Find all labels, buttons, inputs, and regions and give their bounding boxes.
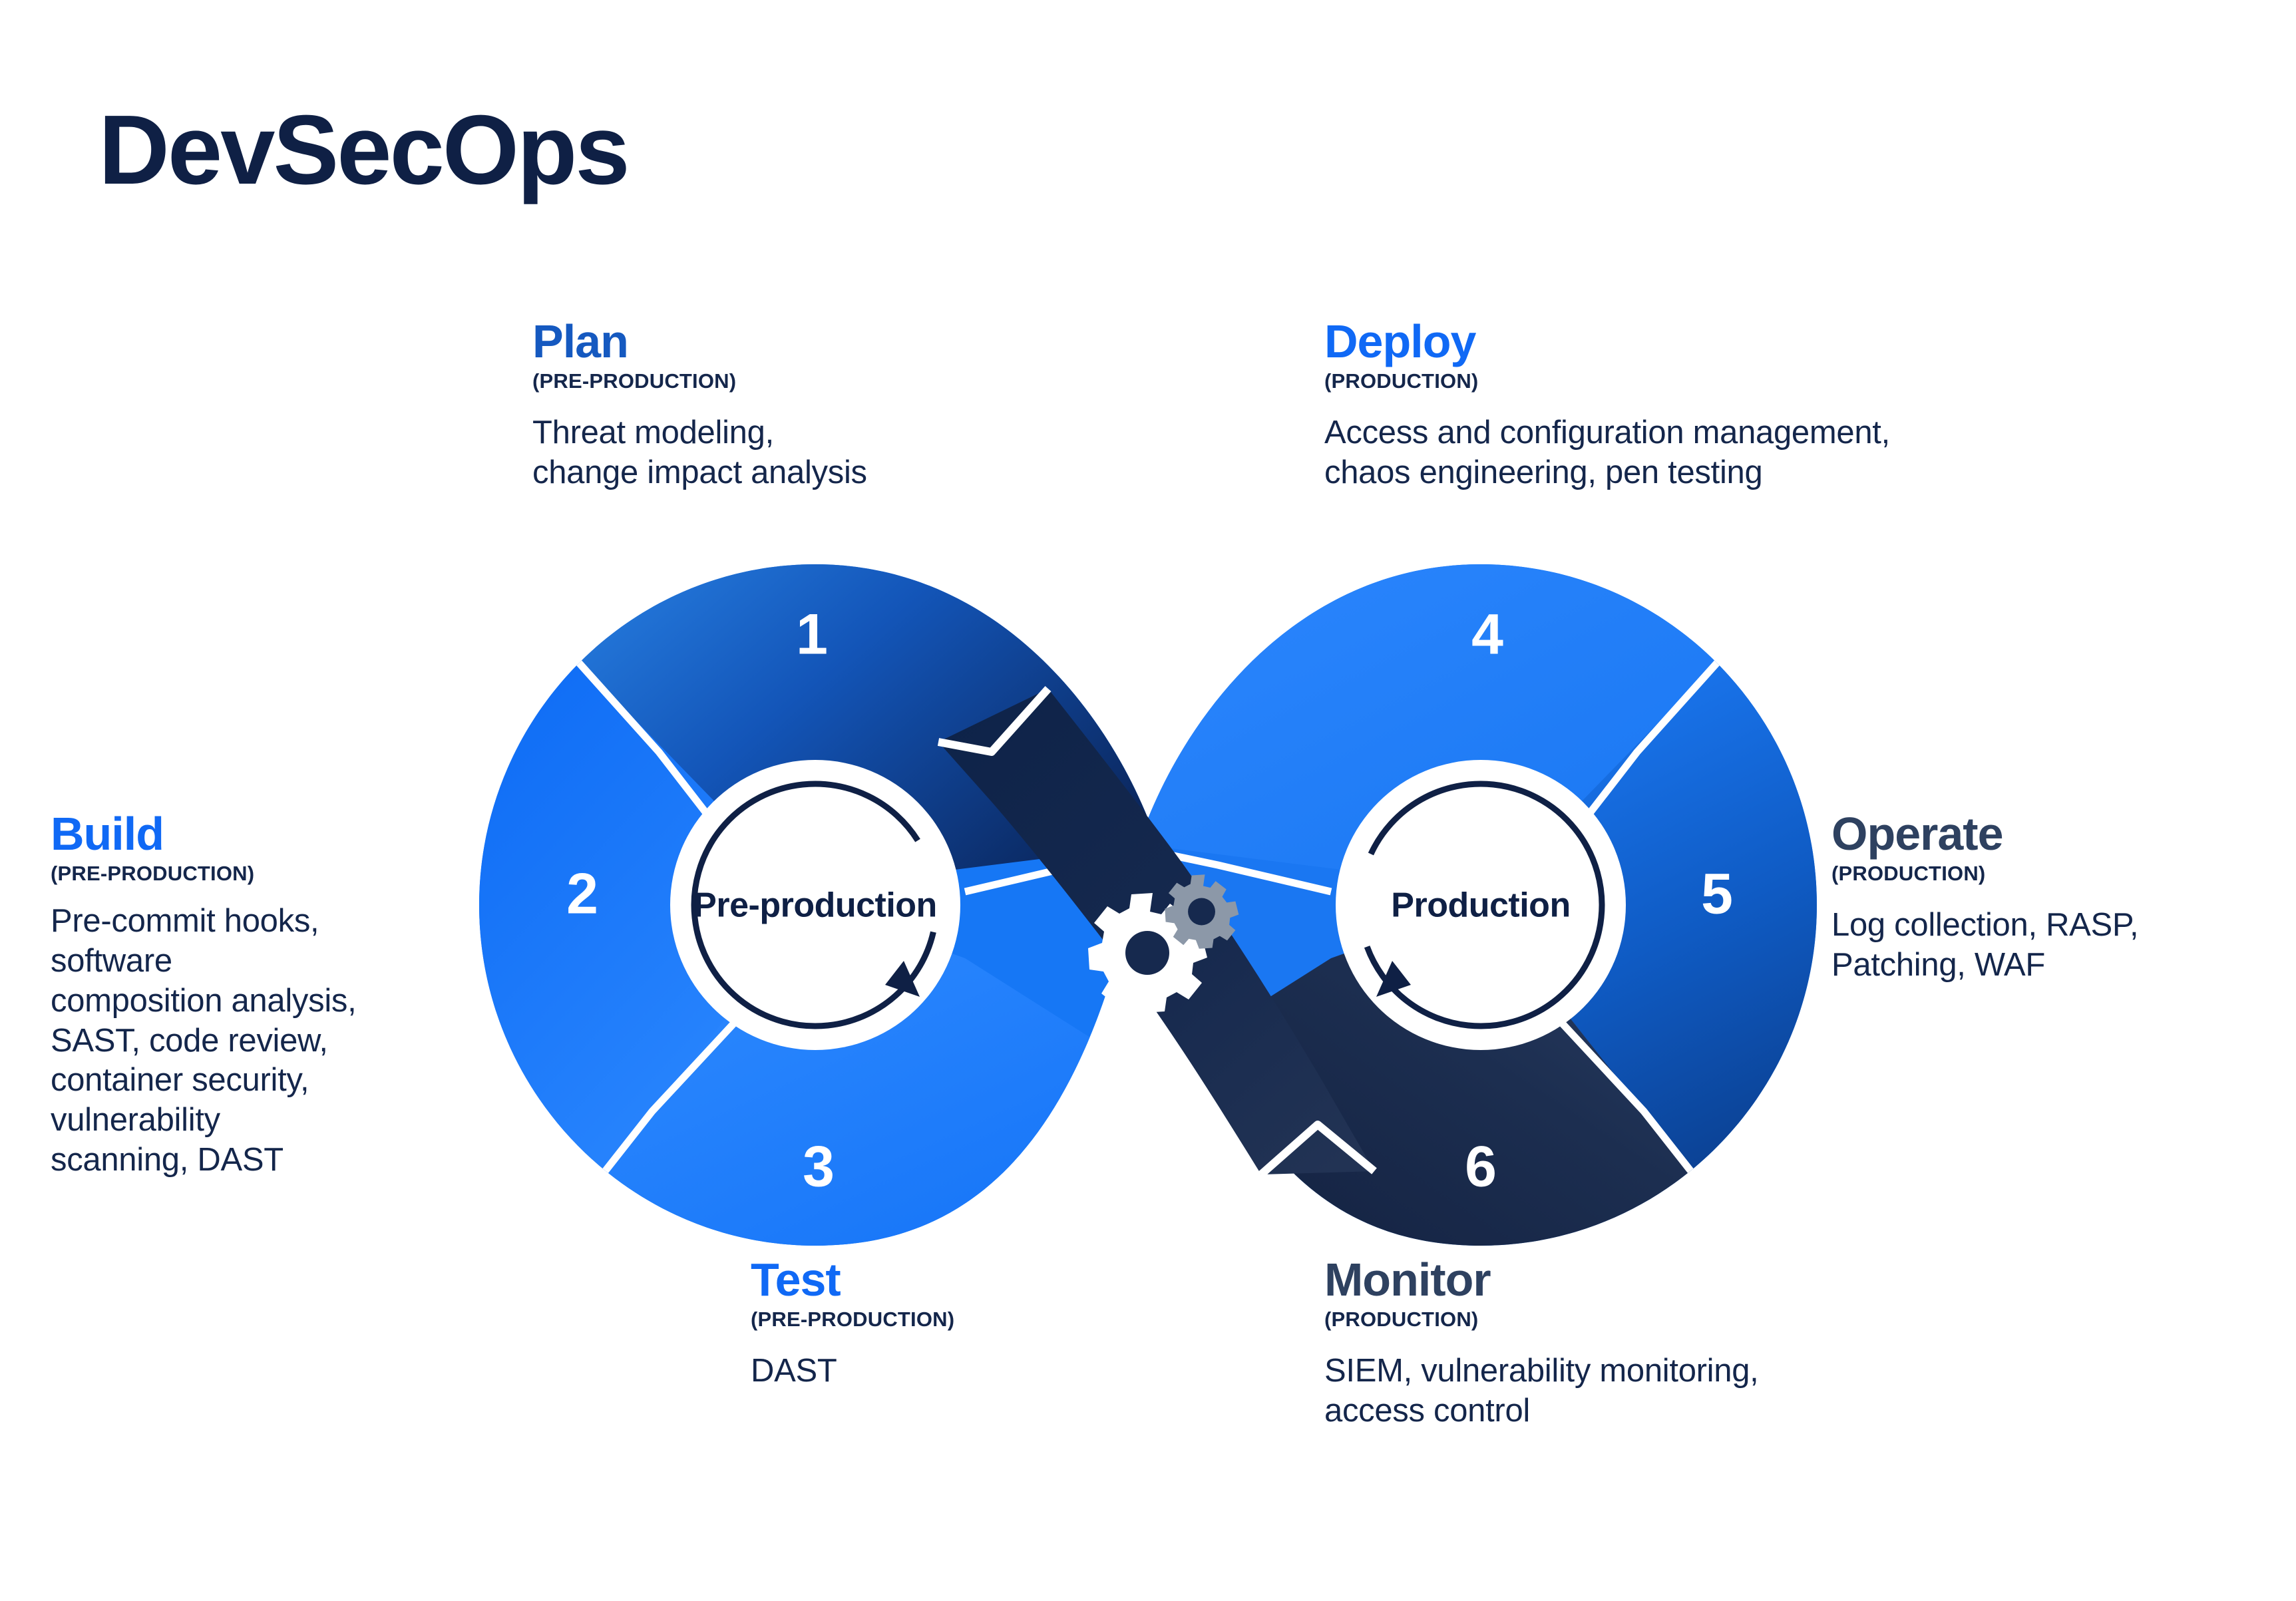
stage-environment-operate: (PRODUCTION): [1831, 862, 2284, 886]
stage-description-line: composition analysis,: [51, 981, 516, 1021]
hub-label-production: Production: [1391, 886, 1570, 925]
stage-description-line: DAST: [751, 1351, 1163, 1391]
stage-description-line: access control: [1324, 1391, 2010, 1431]
stage-description-line: chaos engineering, pen testing: [1324, 453, 2183, 493]
hub-label-pre-production: Pre-production: [693, 886, 937, 925]
stage-description-operate: Log collection, RASP, Patching, WAF: [1831, 906, 2284, 985]
stage-block-test: Test (PRE-PRODUCTION) DAST: [751, 1256, 1163, 1391]
stage-description-line: Threat modeling,: [532, 413, 1091, 453]
stage-block-plan: Plan (PRE-PRODUCTION) Threat modeling, c…: [532, 318, 1091, 493]
diagram-canvas: DevSecOps Plan (PRE-PRODUCTION) Threat m…: [0, 0, 2296, 1601]
stage-description-line: vulnerability: [51, 1101, 516, 1141]
stage-name-test: Test: [751, 1256, 1163, 1304]
segment-number-4: 4: [1471, 603, 1503, 667]
stage-description-test: DAST: [751, 1351, 1163, 1391]
page-title: DevSecOps: [98, 101, 628, 200]
stage-description-line: change impact analysis: [532, 453, 1091, 493]
stage-name-monitor: Monitor: [1324, 1256, 2010, 1304]
segment-number-6: 6: [1465, 1135, 1497, 1199]
stage-description-line: SIEM, vulnerability monitoring,: [1324, 1351, 2010, 1391]
stage-name-deploy: Deploy: [1324, 318, 2183, 365]
stage-block-build: Build (PRE-PRODUCTION) Pre-commit hooks,…: [51, 810, 516, 1180]
hub-pre-production: Pre-production: [670, 760, 960, 1050]
stage-description-line: SAST, code review,: [51, 1021, 516, 1061]
hub-production: Production: [1336, 760, 1626, 1050]
infinity-loop-diagram: Pre-production Production 1 2 3 4: [459, 552, 1837, 1258]
stage-description-plan: Threat modeling, change impact analysis: [532, 413, 1091, 493]
stage-name-operate: Operate: [1831, 810, 2284, 858]
stage-environment-test: (PRE-PRODUCTION): [751, 1308, 1163, 1332]
stage-description-deploy: Access and configuration management, cha…: [1324, 413, 2183, 493]
stage-description-line: Log collection, RASP,: [1831, 906, 2284, 946]
stage-name-build: Build: [51, 810, 516, 858]
stage-name-plan: Plan: [532, 318, 1091, 365]
segment-number-1: 1: [796, 603, 828, 667]
stage-description-line: software: [51, 942, 516, 981]
stage-description-line: Access and configuration management,: [1324, 413, 2183, 453]
stage-block-monitor: Monitor (PRODUCTION) SIEM, vulnerability…: [1324, 1256, 2010, 1431]
stage-description-build: Pre-commit hooks, software composition a…: [51, 902, 516, 1180]
stage-description-line: Patching, WAF: [1831, 946, 2284, 985]
stage-description-line: scanning, DAST: [51, 1141, 516, 1180]
stage-block-operate: Operate (PRODUCTION) Log collection, RAS…: [1831, 810, 2284, 985]
stage-block-deploy: Deploy (PRODUCTION) Access and configura…: [1324, 318, 2183, 493]
segment-number-2: 2: [566, 862, 598, 926]
stage-environment-plan: (PRE-PRODUCTION): [532, 369, 1091, 393]
stage-description-line: Pre-commit hooks,: [51, 902, 516, 942]
stage-environment-build: (PRE-PRODUCTION): [51, 862, 516, 886]
stage-environment-deploy: (PRODUCTION): [1324, 369, 2183, 393]
segment-number-5: 5: [1701, 862, 1733, 926]
segment-number-3: 3: [803, 1135, 835, 1199]
stage-description-monitor: SIEM, vulnerability monitoring, access c…: [1324, 1351, 2010, 1431]
stage-description-line: container security,: [51, 1061, 516, 1101]
stage-environment-monitor: (PRODUCTION): [1324, 1308, 2010, 1332]
